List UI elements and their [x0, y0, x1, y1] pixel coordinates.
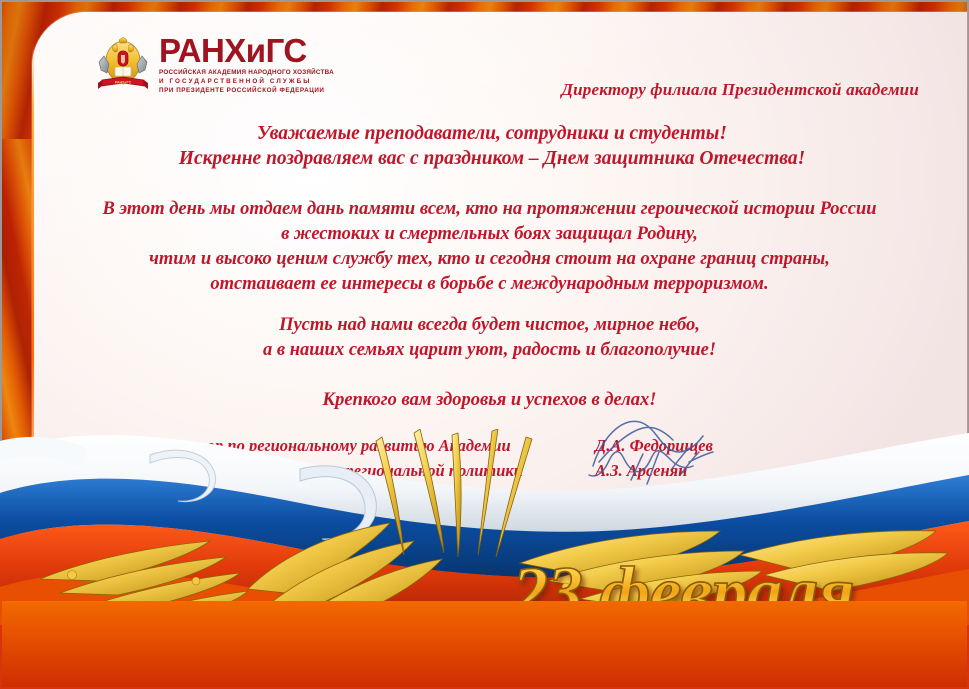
logo-subtitle-line-1: РОССИЙСКАЯ АКАДЕМИЯ НАРОДНОГО ХОЗЯЙСТВА — [159, 68, 334, 77]
addressee-line: Директору филиала Президентской академии — [0, 80, 919, 100]
greeting-card: РАНХиГС РАНХиГС РОССИЙСКАЯ АКАДЕМИЯ НАРО… — [0, 0, 969, 689]
paragraph-1-line-3: чтим и высоко ценим службу тех, кто и се… — [55, 247, 924, 272]
signatory-title: Директор Департамента региональной полит… — [150, 461, 595, 481]
signatory-name: А.З. Арсенян — [595, 461, 687, 481]
paragraph-3-line-1: Крепкого вам здоровья и успехов в делах! — [55, 388, 924, 413]
paragraph-1-line-1: В этот день мы отдаем дань памяти всем, … — [55, 197, 924, 222]
paragraph-2-line-1: Пусть над нами всегда будет чистое, мирн… — [55, 313, 924, 338]
paragraph-1-line-2: в жестоких и смертельных боях защищал Ро… — [55, 222, 924, 247]
logo-wordmark: РАНХиГС — [159, 34, 334, 67]
bottom-color-strip — [2, 601, 967, 687]
signatory-name: Д.А. Федорищев — [595, 436, 713, 456]
salutation-block: Уважаемые преподаватели, сотрудники и ст… — [60, 122, 924, 172]
signatory-row: Директор по региональному развитию Акаде… — [150, 436, 890, 461]
signatory-row: Директор Департамента региональной полит… — [150, 461, 890, 486]
body-paragraph-3: Крепкого вам здоровья и успехов в делах! — [55, 388, 924, 413]
signatory-title: Директор по региональному развитию Акаде… — [150, 436, 595, 456]
salutation-line-2: Искренне поздравляем вас с праздником – … — [60, 147, 924, 172]
paragraph-1-line-4: отстаивает ее интересы в борьбе с междун… — [55, 272, 924, 297]
salutation-line-1: Уважаемые преподаватели, сотрудники и ст… — [60, 122, 924, 147]
body-paragraph-2: Пусть над нами всегда будет чистое, мирн… — [55, 313, 924, 363]
signature-block: Директор по региональному развитию Акаде… — [150, 436, 890, 486]
paper-sheet — [32, 12, 967, 602]
paper-left-edge-highlight — [32, 44, 34, 564]
paragraph-2-line-2: а в наших семьях царит уют, радость и бл… — [55, 338, 924, 363]
body-paragraph-1: В этот день мы отдаем дань памяти всем, … — [55, 197, 924, 298]
